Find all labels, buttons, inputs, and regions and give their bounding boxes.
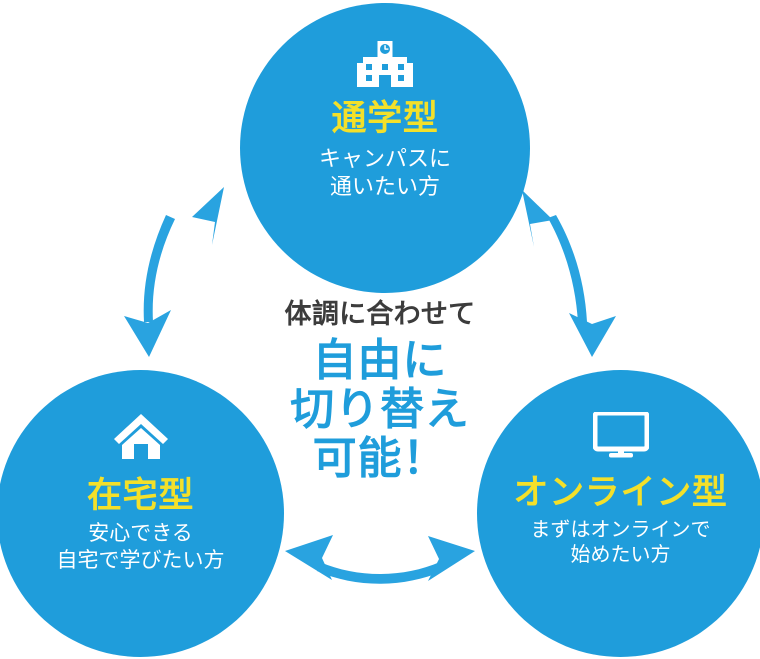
node-home-subtitle: 安心できる 自宅で学びたい方 [57,521,225,575]
node-online-circle[interactable]: オンライン型 まずはオンラインで 始めたい方 [477,370,760,657]
node-school-title: 通学型 [331,101,438,138]
center-caption: 体調に合わせて 自由に 切り替え 可能！ [245,300,515,483]
node-school-subtitle: キャンパスに 通いたい方 [319,145,451,201]
monitor-icon [593,412,649,458]
node-school-circle[interactable]: 通学型 キャンパスに 通いたい方 [240,3,530,293]
school-building-icon [357,41,413,87]
house-icon [113,412,169,460]
arrow-school-online [522,190,616,357]
caption-lead-text: 体調に合わせて [245,300,515,330]
switch-style-diagram: 通学型 キャンパスに 通いたい方 在宅型 安心できる 自宅で学びたい方 オンライ… [0,0,760,659]
arrow-home-online [285,535,475,584]
node-online-subtitle: まずはオンラインで 始めたい方 [531,518,711,569]
node-home-title: 在宅型 [87,478,194,515]
node-online-title: オンライン型 [513,475,727,512]
caption-emphasis-text: 自由に 切り替え 可能！ [245,336,515,484]
node-home-circle[interactable]: 在宅型 安心できる 自宅で学びたい方 [0,370,284,657]
arrow-home-school [124,187,224,357]
